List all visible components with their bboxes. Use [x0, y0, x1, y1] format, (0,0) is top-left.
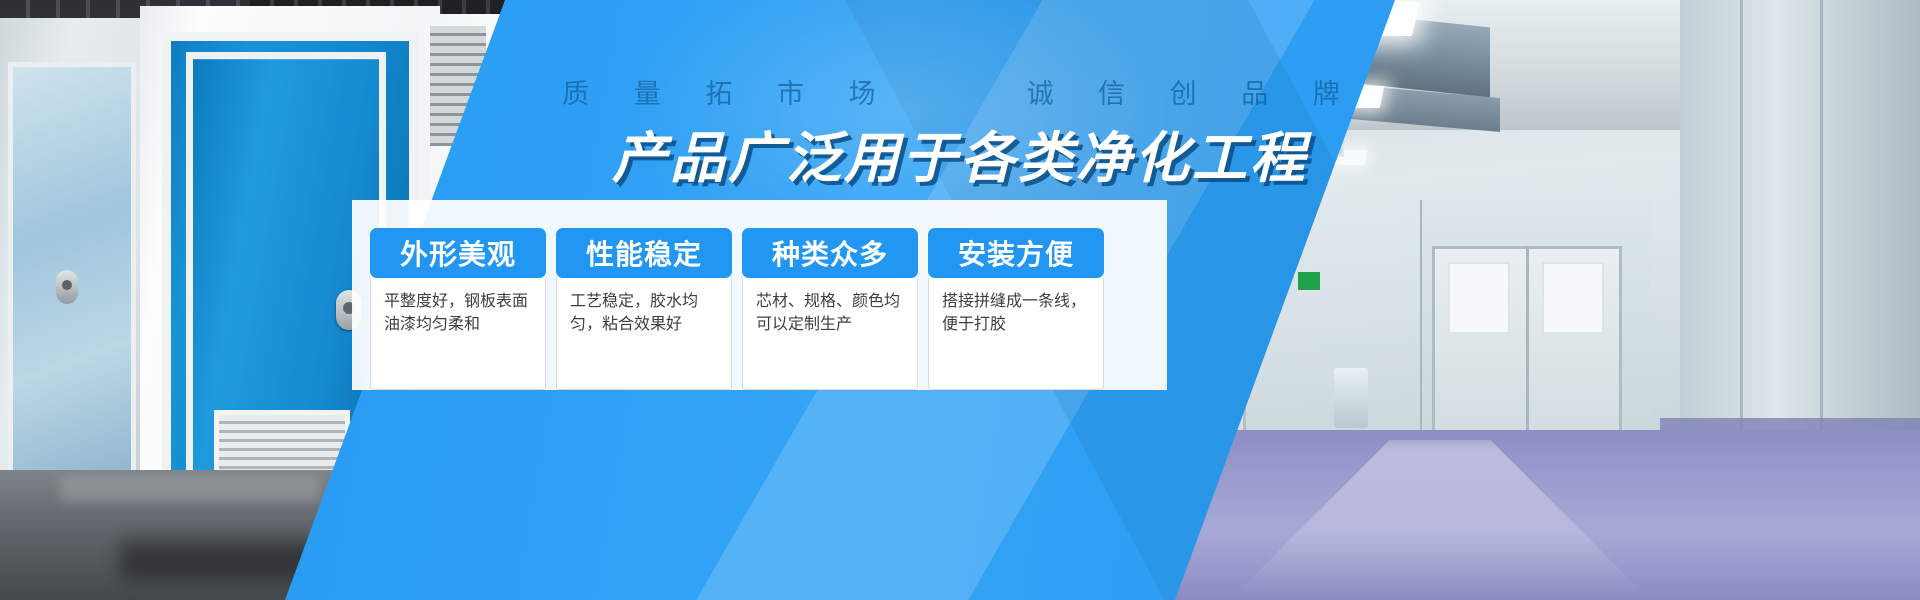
double-door-window-left: [1448, 262, 1510, 334]
feature-panel: 外形美观 平整度好，钢板表面油漆均匀柔和 性能稳定 工艺稳定，胶水均匀，粘合效果…: [352, 200, 1167, 390]
cabin-a-handle: [56, 270, 78, 304]
feature-card-2-title: 性能稳定: [556, 228, 732, 278]
feature-card-2-text: 工艺稳定，胶水均匀，粘合效果好: [556, 278, 732, 390]
feature-card-4-text: 搭接拼缝成一条线，便于打胶: [928, 278, 1104, 390]
headline: 产品广泛用于各类净化工程: [0, 113, 1920, 193]
feature-card-1-title: 外形美观: [370, 228, 546, 278]
feature-card-3-title: 种类众多: [742, 228, 918, 278]
double-door-window-right: [1542, 262, 1604, 334]
left-floor-highlight: [60, 476, 320, 502]
feature-card-1[interactable]: 外形美观 平整度好，钢板表面油漆均匀柔和: [370, 228, 546, 390]
feature-card-list: 外形美观 平整度好，钢板表面油漆均匀柔和 性能稳定 工艺稳定，胶水均匀，粘合效果…: [352, 200, 1167, 390]
feature-card-4-title: 安装方便: [928, 228, 1104, 278]
corridor-cart: [1334, 368, 1368, 428]
tagline: 质 量 拓 市 场 诚 信 创 品 牌: [0, 72, 1920, 111]
promo-banner: 质 量 拓 市 场 诚 信 创 品 牌 产品广泛用于各类净化工程 外形美观 平整…: [0, 0, 1920, 600]
feature-card-3-text: 芯材、规格、颜色均可以定制生产: [742, 278, 918, 390]
cabin-b-vent-louver: [214, 410, 350, 476]
feature-card-3[interactable]: 种类众多 芯材、规格、颜色均可以定制生产: [742, 228, 918, 390]
feature-card-2[interactable]: 性能稳定 工艺稳定，胶水均匀，粘合效果好: [556, 228, 732, 390]
feature-card-1-text: 平整度好，钢板表面油漆均匀柔和: [370, 278, 546, 390]
feature-card-4[interactable]: 安装方便 搭接拼缝成一条线，便于打胶: [928, 228, 1104, 390]
exit-sign-icon: [1298, 272, 1320, 290]
